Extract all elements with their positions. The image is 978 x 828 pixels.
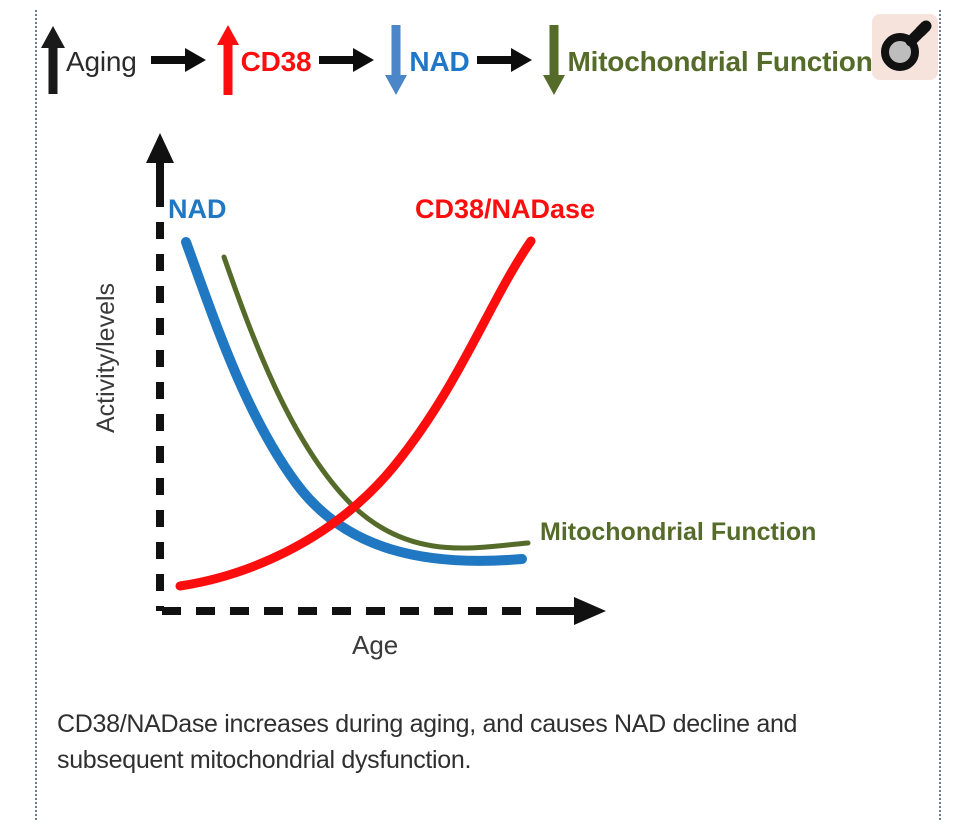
- pathway-label-mitochondrial-function: Mitochondrial Function: [567, 48, 872, 76]
- pathway-node-mitochondrial-function: Mitochondrial Function: [541, 23, 872, 102]
- series-label-mitochondrial-function: Mitochondrial Function: [540, 518, 816, 547]
- series-label-cd38-nadase: CD38/NADase: [415, 194, 595, 225]
- figure-canvas: Aging CD38: [0, 0, 978, 828]
- pathway-node-nad: NAD: [383, 23, 469, 102]
- down-arrow-green-icon: [541, 23, 567, 102]
- figure-caption: CD38/NADase increases during aging, and …: [57, 706, 917, 779]
- y-axis-label: Activity/levels: [92, 283, 121, 433]
- pathway-node-aging: Aging: [40, 24, 137, 101]
- cursor-magnifier-icon: [872, 14, 938, 80]
- up-arrow-red-icon: [215, 23, 241, 102]
- pathway-node-cd38: CD38: [215, 23, 312, 102]
- pathway-connector-arrow-2-icon: [319, 47, 375, 78]
- x-axis-label: Age: [352, 630, 398, 661]
- up-arrow-black-icon: [40, 24, 66, 101]
- series-label-nad: NAD: [168, 194, 227, 225]
- pathway-label-aging: Aging: [66, 48, 137, 76]
- chart-area: Activity/levels Age NAD CD38/NADase Mito…: [40, 115, 940, 685]
- pathway-connector-arrow-3-icon: [477, 47, 533, 78]
- pathway-diagram: Aging CD38: [40, 22, 940, 102]
- pathway-label-cd38: CD38: [241, 48, 312, 76]
- down-arrow-blue-icon: [383, 23, 409, 102]
- series-curve-mitochondrial-function: [224, 257, 528, 548]
- x-axis: [162, 597, 606, 625]
- pathway-connector-arrow-1-icon: [151, 47, 207, 78]
- pathway-label-nad: NAD: [409, 48, 469, 76]
